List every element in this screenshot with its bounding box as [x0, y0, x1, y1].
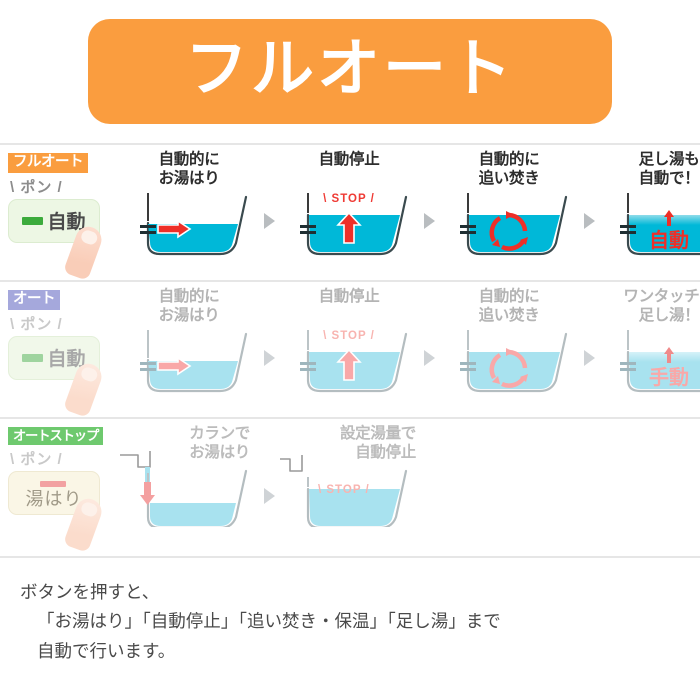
- step-reheat: 自動的に 追い焚き: [440, 145, 578, 280]
- control-cell-auto-stop: オートストップ \ ポン / 湯はり: [8, 419, 120, 515]
- mode-tag-auto: オート: [8, 290, 60, 310]
- caption-line-1: 自動停止: [280, 151, 418, 170]
- caption-line-2: お湯はり: [120, 170, 258, 189]
- triangle-right-icon: [264, 213, 275, 229]
- header-badge: フルオート: [88, 19, 612, 124]
- caption-line-2: 追い焚き: [440, 170, 578, 189]
- mode-row-full-auto: フルオート \ ポン / 自動 自動的に お湯はり: [0, 145, 700, 282]
- caption-line-2: 足し湯！: [600, 307, 700, 326]
- page-title: フルオート: [185, 38, 515, 105]
- triangle-right-icon: [424, 350, 435, 366]
- mode-row-auto-stop: オートストップ \ ポン / 湯はり カランで お湯はり 設定湯量で: [0, 419, 700, 558]
- caption-line-1: ワンタッチで: [600, 288, 700, 307]
- caption-line-1: 設定湯量で: [280, 425, 416, 444]
- bathtub-graphic: 自動: [600, 191, 700, 263]
- mode-tag-full-auto: フルオート: [8, 153, 88, 173]
- indicator-bar-icon: [22, 217, 43, 225]
- step-separator: [578, 282, 600, 417]
- mode-tag-auto-stop: オートストップ: [8, 427, 103, 445]
- caption-line-2: 追い焚き: [440, 307, 578, 326]
- triangle-right-icon: [264, 350, 275, 366]
- press-sound-text: \ ポン /: [10, 448, 120, 469]
- step-auto-stop-at-level: 設定湯量で 自動停止 \ STOP /: [280, 419, 418, 556]
- step-separator: [258, 145, 280, 280]
- fill-button-panel[interactable]: 湯はり: [8, 471, 100, 515]
- step-reheat: 自動的に 追い焚き: [440, 282, 578, 417]
- caption-line-1: 自動停止: [280, 288, 418, 307]
- auto-button-panel[interactable]: 自動: [8, 336, 100, 380]
- step-separator: [258, 282, 280, 417]
- caption-line-2: お湯はり: [120, 307, 258, 326]
- header: フルオート: [0, 0, 700, 145]
- caption-line-1: 自動的に: [440, 151, 578, 170]
- bathtub-graphic: [120, 465, 258, 537]
- caption-line-2: 自動で！: [600, 170, 700, 189]
- step-caption: 自動的に お湯はり: [120, 151, 258, 191]
- triangle-right-icon: [424, 213, 435, 229]
- mode-row-auto: オート \ ポン / 自動 自動的に お湯はり: [0, 282, 700, 419]
- step-fill-water: 自動的に お湯はり: [120, 145, 258, 280]
- press-sound-text: \ ポン /: [10, 176, 120, 197]
- step-auto-stop: 自動停止 \ STOP /: [280, 145, 418, 280]
- step-add-hot-water: 足し湯も 自動で！: [600, 145, 700, 280]
- step-caption: 自動的に 追い焚き: [440, 151, 578, 191]
- bathtub-graphic: [440, 328, 578, 400]
- caption-line-1: 自動的に: [120, 288, 258, 307]
- caption-line-1: 自動的に: [120, 151, 258, 170]
- triangle-right-icon: [264, 488, 275, 504]
- step-faucet-fill: カランで お湯はり: [120, 419, 258, 556]
- caption-line-1: 足し湯も: [600, 151, 700, 170]
- step-manual-add-water: ワンタッチで 足し湯！: [600, 282, 700, 417]
- step-separator: [578, 145, 600, 280]
- step-caption: ワンタッチで 足し湯！: [600, 288, 700, 328]
- triangle-right-icon: [584, 350, 595, 366]
- step-fill-water: 自動的に お湯はり: [120, 282, 258, 417]
- step-separator: [418, 145, 440, 280]
- step-caption: 自動的に 追い焚き: [440, 288, 578, 328]
- bathtub-graphic: 手動: [600, 328, 700, 400]
- control-cell-full-auto: フルオート \ ポン / 自動: [8, 145, 120, 243]
- step-separator: [418, 282, 440, 417]
- fill-button-label: 湯はり: [26, 485, 83, 511]
- footer-line-2: 「お湯はり」「自動停止」「追い焚き・保温」「足し湯」まで: [20, 607, 700, 636]
- bathtub-graphic: \ STOP /: [280, 465, 418, 537]
- footer-line-1: ボタンを押すと、: [20, 578, 700, 607]
- control-cell-auto: オート \ ポン / 自動: [8, 282, 120, 380]
- caption-line-1: カランで: [120, 425, 250, 444]
- bathtub-graphic: [120, 328, 258, 400]
- indicator-bar-icon: [22, 354, 43, 362]
- step-auto-stop: 自動停止 \ STOP /: [280, 282, 418, 417]
- bathtub-graphic: [120, 191, 258, 263]
- indicator-bar-icon: [40, 481, 66, 487]
- caption-line-1: 自動的に: [440, 288, 578, 307]
- step-caption: 自動停止: [280, 288, 418, 328]
- auto-button-panel[interactable]: 自動: [8, 199, 100, 243]
- bathtub-graphic: \ STOP /: [280, 191, 418, 263]
- step-caption: 足し湯も 自動で！: [600, 151, 700, 191]
- step-separator: [258, 419, 280, 556]
- triangle-right-icon: [584, 213, 595, 229]
- bathtub-graphic: [440, 191, 578, 263]
- footer-description: ボタンを押すと、 「お湯はり」「自動停止」「追い焚き・保温」「足し湯」まで 自動…: [0, 558, 700, 666]
- step-caption: 自動的に お湯はり: [120, 288, 258, 328]
- footer-line-3: 自動で行います。: [20, 637, 700, 666]
- press-sound-text: \ ポン /: [10, 313, 120, 334]
- step-caption: 自動停止: [280, 151, 418, 191]
- bathtub-graphic: \ STOP /: [280, 328, 418, 400]
